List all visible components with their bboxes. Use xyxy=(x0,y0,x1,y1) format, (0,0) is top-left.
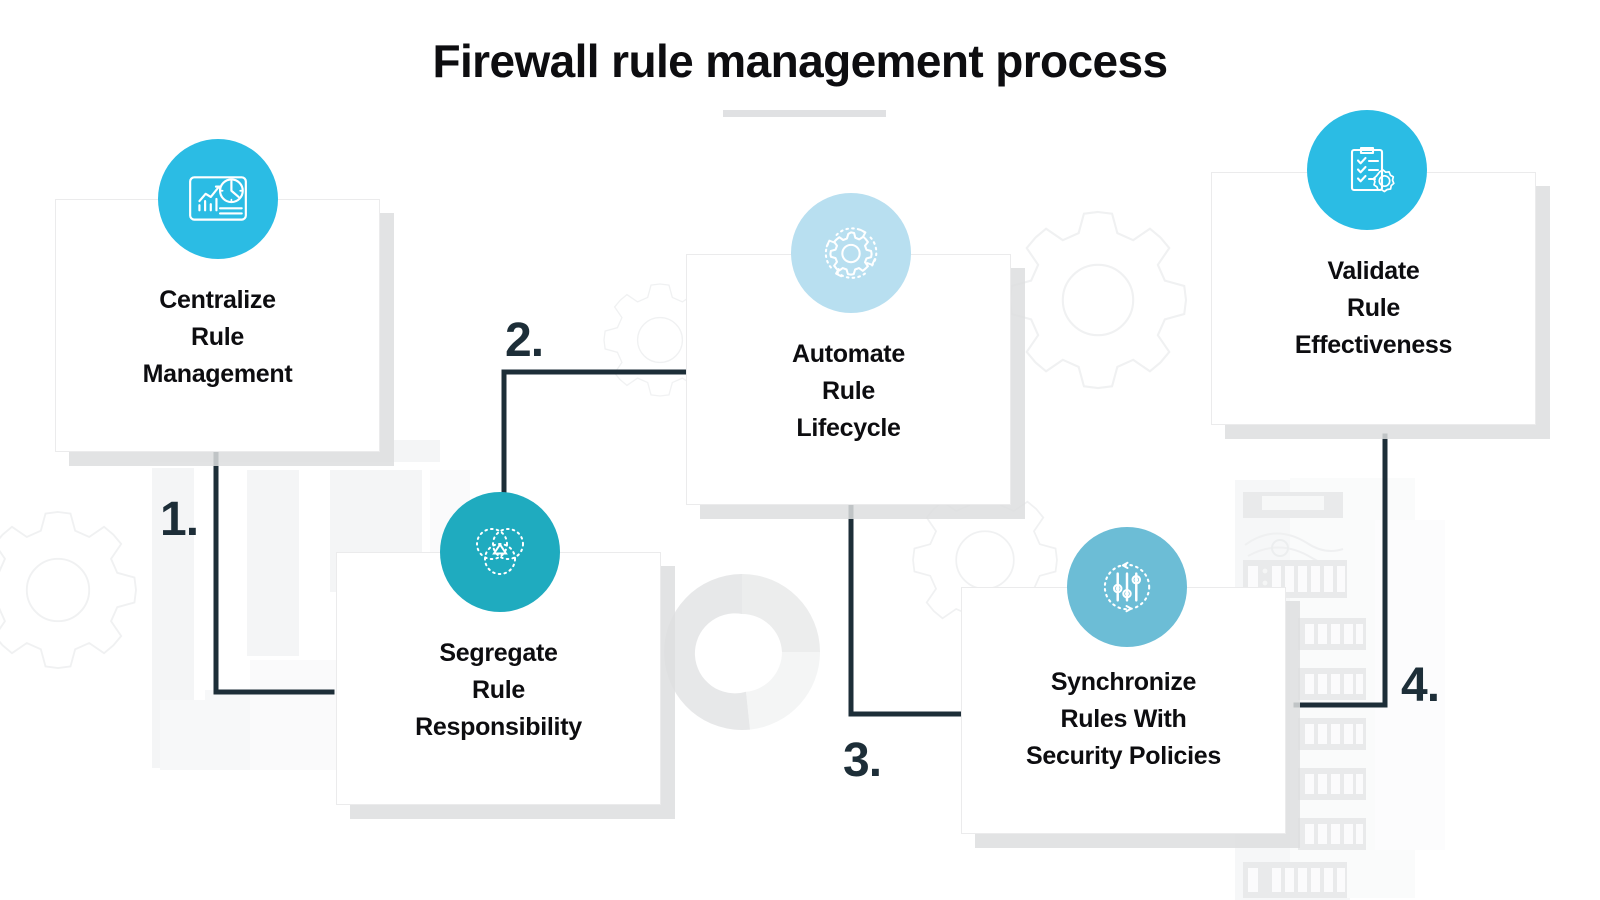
card-title-line: Rule xyxy=(191,323,244,351)
gear-cycle-icon xyxy=(791,193,911,313)
card-title-line: Centralize xyxy=(159,286,275,314)
step-number-1: 1. xyxy=(160,492,198,547)
card-title-line: Segregate xyxy=(439,639,557,667)
title-underline-rule xyxy=(723,110,886,117)
step-card-title: Validate Rule Effectiveness xyxy=(1212,253,1535,364)
card-title-line: Rule xyxy=(472,676,525,704)
infographic-canvas: 1. 2. 3. 4. Centralize Rule Management S… xyxy=(0,0,1600,900)
step-number-2: 2. xyxy=(505,313,543,368)
card-title-line: Validate xyxy=(1327,257,1419,285)
clipboard-check-badge-icon xyxy=(1307,110,1427,230)
step-card-title: Synchronize Rules With Security Policies xyxy=(962,664,1285,775)
connector-4 xyxy=(1296,436,1385,705)
card-title-line: Rules With xyxy=(1061,705,1187,733)
step-number-4: 4. xyxy=(1401,658,1439,713)
card-title-line: Synchronize xyxy=(1051,668,1196,696)
card-title-line: Automate xyxy=(792,340,905,368)
card-title-line: Effectiveness xyxy=(1295,331,1452,359)
card-title-line: Management xyxy=(143,360,293,388)
card-title-line: Security Policies xyxy=(1026,742,1221,770)
dashboard-analytics-icon xyxy=(158,139,278,259)
card-title-line: Rule xyxy=(1347,294,1400,322)
card-title-line: Rule xyxy=(822,377,875,405)
step-card-title: Automate Rule Lifecycle xyxy=(687,336,1010,447)
connector-3 xyxy=(851,505,961,714)
card-title-line: Lifecycle xyxy=(796,414,900,442)
sliders-cycle-icon xyxy=(1067,527,1187,647)
connector-1 xyxy=(216,452,332,692)
step-card-title: Segregate Rule Responsibility xyxy=(337,635,660,746)
step-card-title: Centralize Rule Management xyxy=(56,282,379,393)
page-title: Firewall rule management process xyxy=(0,34,1600,88)
step-number-3: 3. xyxy=(843,733,881,788)
card-title-line: Responsibility xyxy=(415,713,582,741)
venn-diagram-icon xyxy=(440,492,560,612)
